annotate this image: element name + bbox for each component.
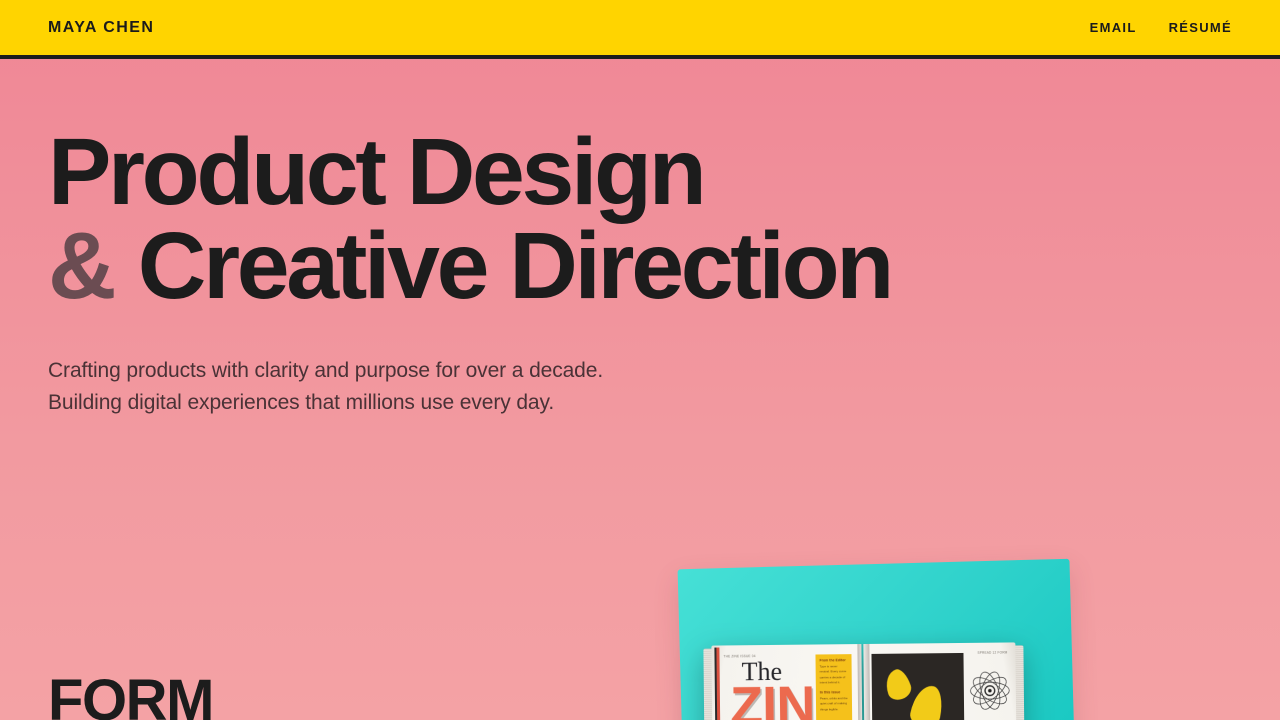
pear-shape-icon xyxy=(908,683,946,720)
hero-title-line-2: & Creative Direction xyxy=(48,219,891,313)
zine-sidebar-heading-2: In this issue xyxy=(820,690,848,694)
pear-shape-icon xyxy=(882,667,914,703)
zine-folio-right: SPREAD 12 FORM xyxy=(977,650,1007,656)
hero-subtitle: Crafting products with clarity and purpo… xyxy=(48,355,891,419)
zine-sidebar-heading-1: From the Editor xyxy=(820,658,848,662)
zine-yellow-sidebar: From the Editor Type is never neutral. E… xyxy=(815,654,852,720)
page-root: MAYA CHEN EMAIL RÉSUMÉ Product Design & … xyxy=(0,0,1280,720)
hero-subtitle-line-2: Building digital experiences that millio… xyxy=(48,387,891,419)
zine-sidebar-body-2: Pears, orbits and the quiet craft of mak… xyxy=(820,696,848,712)
zine-sidebar-body-1: Type is never neutral. Every curve carri… xyxy=(820,664,848,685)
site-header: MAYA CHEN EMAIL RÉSUMÉ xyxy=(0,0,1280,59)
hero-section: Product Design & Creative Direction Craf… xyxy=(48,59,891,419)
atom-orbit-icon xyxy=(968,668,1012,712)
zine-title-word: ZIN xyxy=(730,679,815,720)
hero-title-line-1: Product Design xyxy=(48,125,891,219)
zine-spine-stripe xyxy=(714,648,720,720)
zine-page-right: SPREAD 12 FORM MOTION M xyxy=(863,642,1016,720)
nav-link-resume[interactable]: RÉSUMÉ xyxy=(1169,20,1232,35)
nav-link-email[interactable]: EMAIL xyxy=(1090,20,1137,35)
hero-title-line-2-text: Creative Direction xyxy=(138,213,891,319)
zine-gutter xyxy=(857,644,870,720)
zine-page-left: THE ZINE ISSUE 04 The ZIN From the Edito… xyxy=(711,644,862,720)
main-nav: EMAIL RÉSUMÉ xyxy=(1090,20,1232,35)
brand-logo[interactable]: MAYA CHEN xyxy=(48,19,154,37)
section-heading-form: FORM xyxy=(48,672,213,720)
zine-black-panel xyxy=(871,653,964,720)
hero-ampersand: & xyxy=(48,213,115,319)
hero-subtitle-line-1: Crafting products with clarity and purpo… xyxy=(48,355,891,387)
zine-magazine-spread: THE ZINE ISSUE 04 The ZIN From the Edito… xyxy=(711,642,1016,720)
showcase-image[interactable]: THE ZINE ISSUE 04 The ZIN From the Edito… xyxy=(664,548,1094,720)
page-title: Product Design & Creative Direction xyxy=(48,125,891,313)
